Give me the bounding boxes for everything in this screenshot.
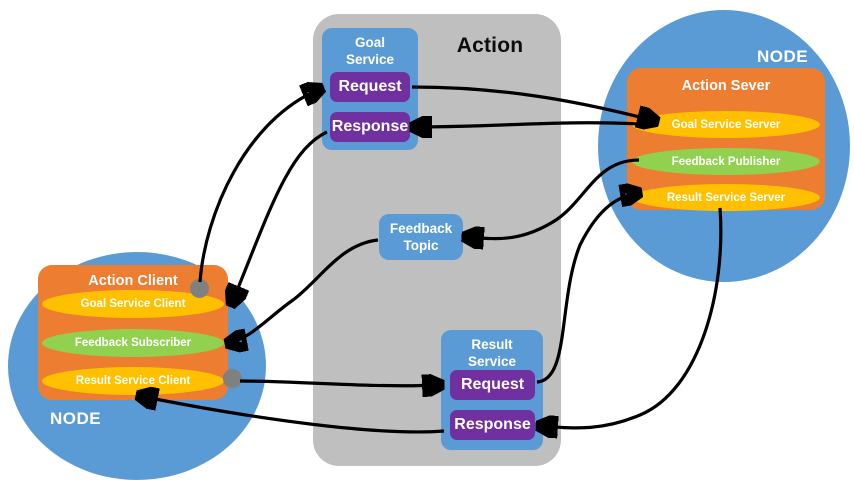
action-server-title: Action Sever xyxy=(627,78,825,94)
result-service-request-box[interactable]: Request xyxy=(450,370,535,400)
feedback-topic-line1: Feedback xyxy=(390,221,452,236)
result-service-title-line2: Service xyxy=(468,354,516,369)
feedback-subscriber-ellipse[interactable]: Feedback Subscriber xyxy=(42,329,224,357)
result-service-server-ellipse[interactable]: Result Service Server xyxy=(632,184,820,211)
result-service-title-line1: Result xyxy=(471,337,512,352)
feedback-topic-line2: Topic xyxy=(404,238,439,253)
result-service-client-ellipse[interactable]: Result Service Client xyxy=(42,367,224,395)
client-node-label: NODE xyxy=(50,409,101,429)
goal-service-title-line1: Goal xyxy=(355,35,385,50)
goal-client-connector-dot xyxy=(190,279,209,298)
goal-service-title: Goal Service xyxy=(322,34,418,68)
feedback-topic-box[interactable]: Feedback Topic xyxy=(379,214,463,260)
feedback-publisher-ellipse[interactable]: Feedback Publisher xyxy=(632,148,820,175)
goal-service-server-ellipse[interactable]: Goal Service Server xyxy=(632,111,820,138)
server-node-label: NODE xyxy=(757,47,808,67)
result-service-response-box[interactable]: Response xyxy=(450,410,535,440)
action-group-title: Action xyxy=(425,34,555,58)
goal-service-request-box[interactable]: Request xyxy=(330,72,410,102)
diagram-canvas: Action Action Client Goal Service Client… xyxy=(0,0,854,480)
result-service-title: Result Service xyxy=(441,336,543,370)
arrow-goal-client-to-request xyxy=(200,89,320,282)
result-client-connector-dot xyxy=(223,369,242,388)
feedback-topic-label: Feedback Topic xyxy=(390,220,452,254)
goal-service-title-line2: Service xyxy=(346,52,394,67)
goal-service-response-box[interactable]: Response xyxy=(330,112,410,142)
